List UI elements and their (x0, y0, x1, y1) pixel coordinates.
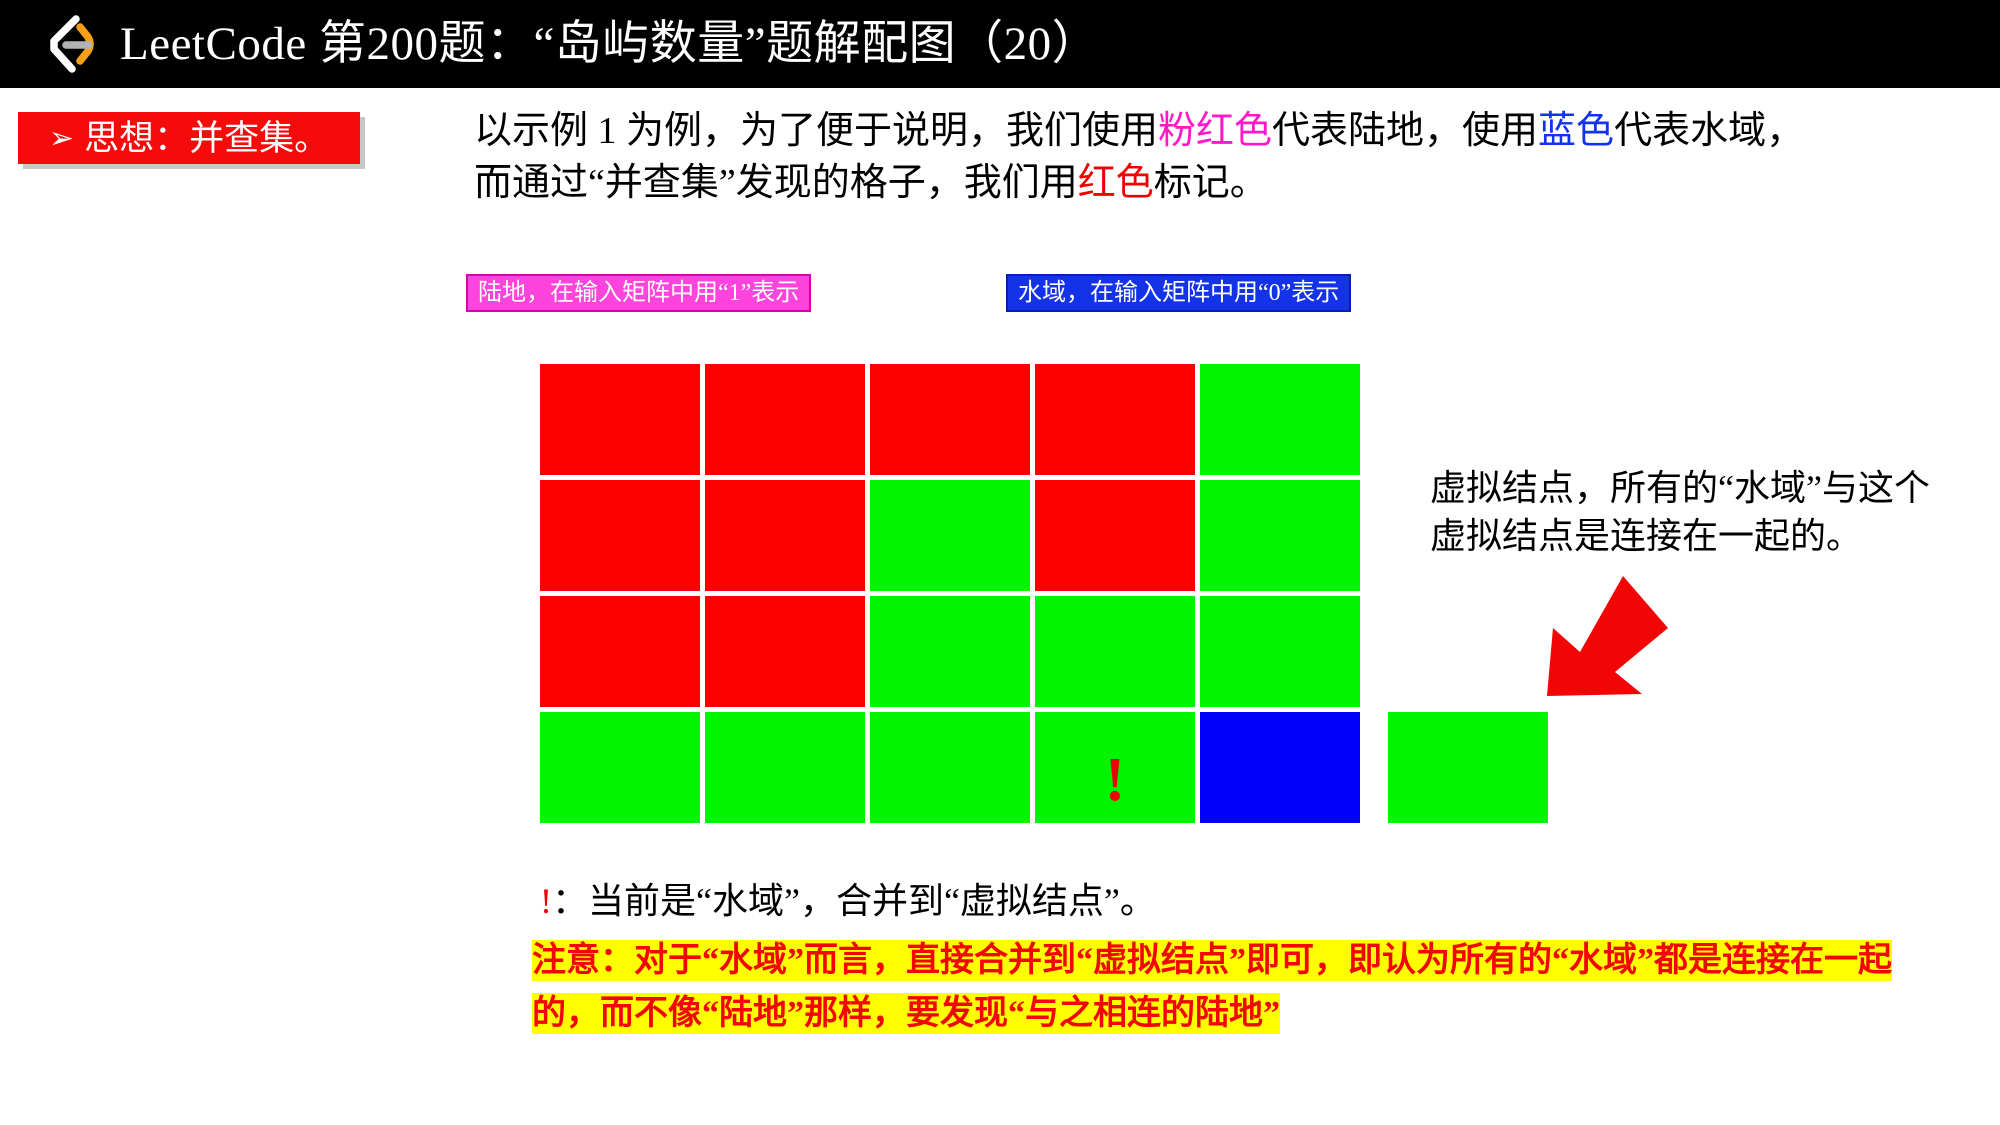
intro-pink-word: 粉红色 (1158, 110, 1272, 152)
intro-blue-word: 蓝色 (1538, 110, 1614, 152)
intro-line2-part-a: 而通过“并查集”发现的格子，我们用 (474, 162, 1078, 204)
legend-land-label: 陆地，在输入矩阵中用“1”表示 (478, 281, 799, 305)
intro-paragraph: 以示例 1 为例，为了便于说明，我们使用粉红色代表陆地，使用蓝色代表水域， 而通… (474, 105, 1984, 210)
island-grid: ! (540, 364, 1360, 823)
virtual-node-note: 虚拟结点，所有的“水域”与这个虚拟结点是连接在一起的。 (1430, 465, 1940, 560)
slide-root: LeetCode 第200题：“岛屿数量”题解配图（20） ➢ 思想：并查集。 … (0, 0, 2000, 1125)
bang-explanation: !：当前是“水域”，合并到“虚拟结点”。 (540, 880, 1740, 923)
legend-land-badge: 陆地，在输入矩阵中用“1”表示 (466, 274, 811, 312)
grid-cell-2-3 (1035, 596, 1195, 707)
grid-cell-3-0 (540, 712, 700, 823)
grid-cell-0-1 (705, 364, 865, 475)
idea-banner: ➢ 思想：并查集。 (18, 112, 360, 164)
grid-cell-2-0 (540, 596, 700, 707)
legend-water-badge: 水域，在输入矩阵中用“0”表示 (1006, 274, 1351, 312)
intro-line1-part-b: 代表陆地，使用 (1272, 110, 1538, 152)
virtual-node-cell (1388, 712, 1548, 823)
intro-line-1: 以示例 1 为例，为了便于说明，我们使用粉红色代表陆地，使用蓝色代表水域， (474, 105, 1984, 157)
header-bar: LeetCode 第200题：“岛屿数量”题解配图（20） (0, 0, 2000, 88)
grid-cell-3-4 (1200, 712, 1360, 823)
grid-cell-0-0 (540, 364, 700, 475)
grid-cell-2-2 (870, 596, 1030, 707)
grid-cell-2-4 (1200, 596, 1360, 707)
important-note: 注意：对于“水域”而言，直接合并到“虚拟结点”即可，即认为所有的“水域”都是连接… (532, 935, 1952, 1040)
banner-label: 思想：并查集。 (84, 121, 329, 156)
down-left-arrow-icon (1505, 572, 1705, 702)
current-cell-marker: ! (1105, 749, 1126, 811)
grid-cell-1-3 (1035, 480, 1195, 591)
banner-bullet-icon: ➢ (49, 121, 74, 156)
leetcode-logo-icon (42, 13, 98, 75)
grid-cell-1-2 (870, 480, 1030, 591)
grid-cell-2-1 (705, 596, 865, 707)
important-note-text: 注意：对于“水域”而言，直接合并到“虚拟结点”即可，即认为所有的“水域”都是连接… (532, 940, 1892, 1034)
grid-cell-1-0 (540, 480, 700, 591)
intro-line-2: 而通过“并查集”发现的格子，我们用红色标记。 (474, 157, 1984, 209)
grid-cell-1-1 (705, 480, 865, 591)
page-title: LeetCode 第200题：“岛屿数量”题解配图（20） (120, 21, 1099, 68)
intro-line1-part-c: 代表水域， (1614, 110, 1804, 152)
grid-cell-3-2 (870, 712, 1030, 823)
grid-cell-0-4 (1200, 364, 1360, 475)
grid-cell-3-1 (705, 712, 865, 823)
bang-explanation-text: ：当前是“水域”，合并到“虚拟结点”。 (552, 881, 1156, 921)
grid-cell-3-3: ! (1035, 712, 1195, 823)
intro-line2-part-b: 标记。 (1154, 162, 1268, 204)
grid-cell-0-3 (1035, 364, 1195, 475)
intro-red-word: 红色 (1078, 162, 1154, 204)
grid-cell-0-2 (870, 364, 1030, 475)
legend-water-label: 水域，在输入矩阵中用“0”表示 (1018, 281, 1339, 305)
intro-line1-part-a: 以示例 1 为例，为了便于说明，我们使用 (474, 110, 1158, 152)
grid-cell-1-4 (1200, 480, 1360, 591)
bang-symbol: ! (540, 881, 552, 921)
